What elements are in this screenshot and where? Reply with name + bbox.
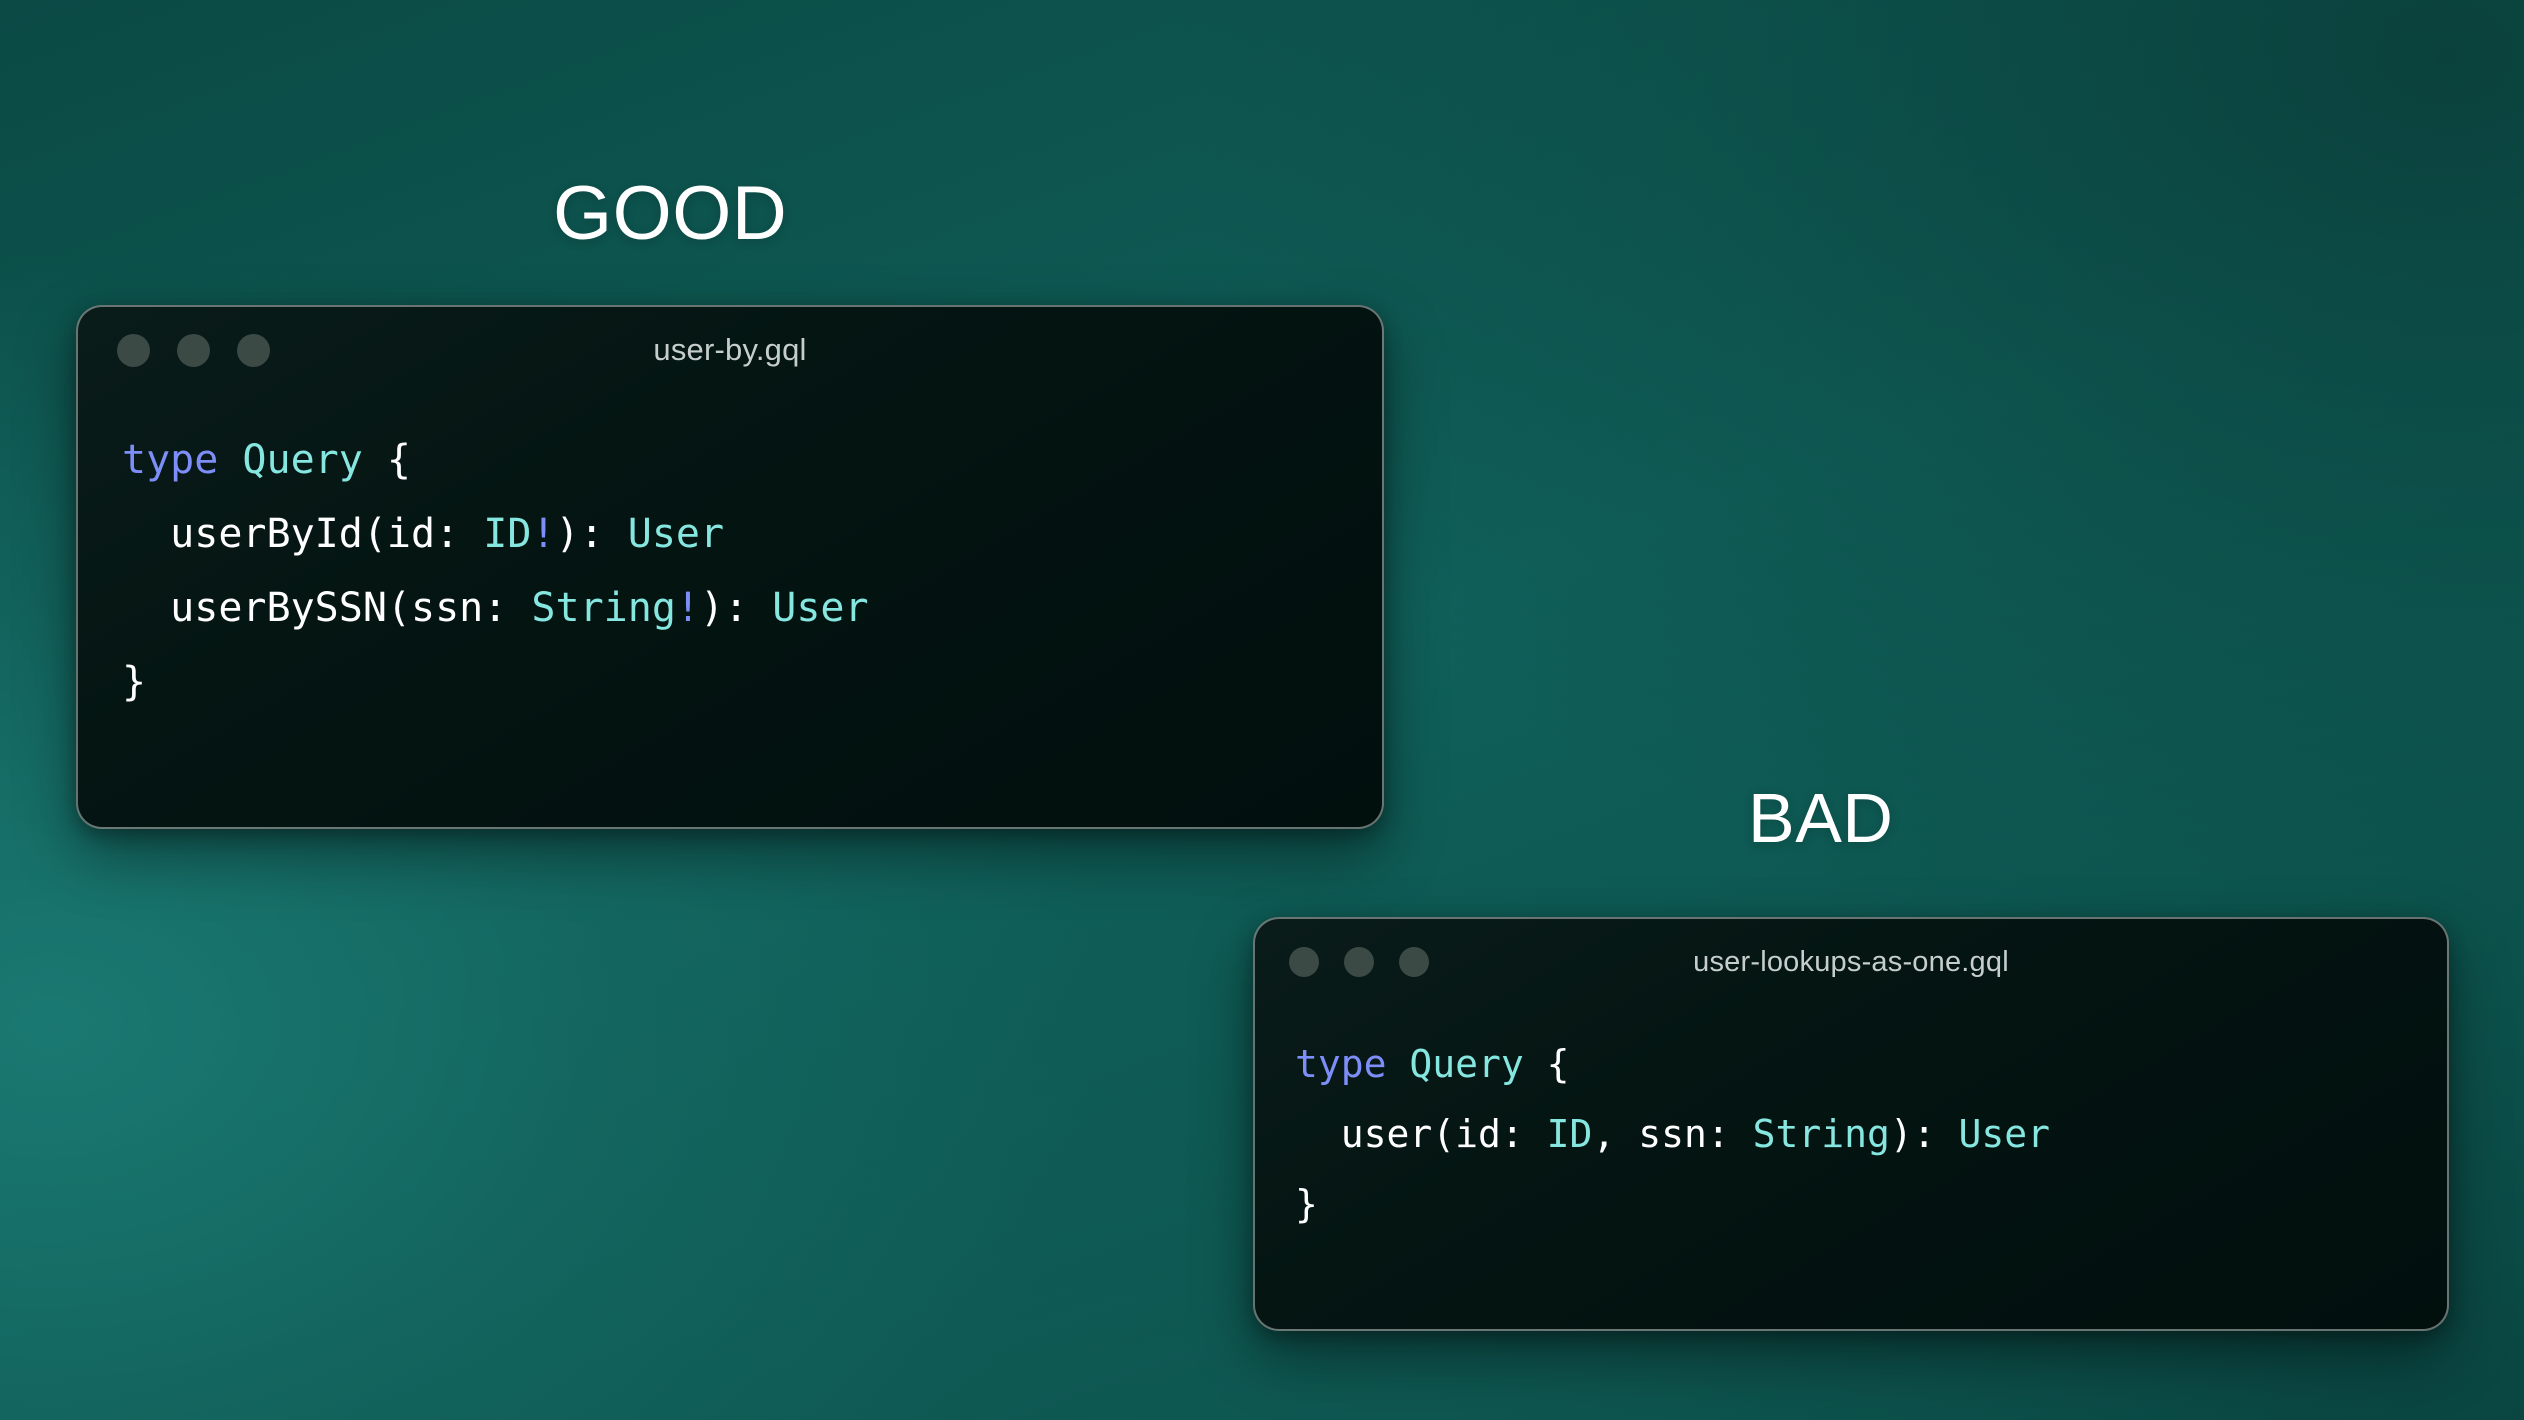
code-token: Query [242,437,362,483]
code-token: { [363,437,411,483]
code-token: ID [1547,1112,1593,1156]
filename-bad: user-lookups-as-one.gql [1255,946,2447,979]
code-token: ): [556,511,628,557]
code-line: } [122,645,1382,719]
traffic-lights-good [117,334,270,367]
minimize-dot-icon[interactable] [177,334,210,367]
code-line: type Query { [1295,1029,2447,1099]
traffic-lights-bad [1289,947,1429,977]
code-block-bad: type Query { user(id: ID, ssn: String): … [1255,1005,2447,1239]
code-token: } [1295,1182,1318,1226]
code-token: ID [483,511,531,557]
bad-label: BAD [1748,783,1893,853]
code-token: type [1295,1042,1387,1086]
comparison-canvas: GOOD user-by.gql type Query { userById(i… [0,0,2524,1420]
code-token: { [1524,1042,1570,1086]
code-token: User [1959,1112,2051,1156]
close-dot-icon[interactable] [117,334,150,367]
code-token: User [628,511,724,557]
code-token: } [122,659,146,705]
filename-good: user-by.gql [78,332,1382,368]
code-token: User [772,585,868,631]
code-token: String [531,585,676,631]
minimize-dot-icon[interactable] [1344,947,1374,977]
titlebar-good: user-by.gql [78,307,1382,393]
code-block-good: type Query { userById(id: ID!): User use… [78,393,1382,719]
code-line: type Query { [122,423,1382,497]
good-label: GOOD [553,176,787,252]
code-line: } [1295,1169,2447,1239]
code-token: user(id: [1295,1112,1547,1156]
code-token: Query [1409,1042,1523,1086]
code-token [218,437,242,483]
code-token: , ssn: [1592,1112,1752,1156]
code-token: ): [1890,1112,1959,1156]
zoom-dot-icon[interactable] [237,334,270,367]
code-line: userBySSN(ssn: String!): User [122,571,1382,645]
titlebar-bad: user-lookups-as-one.gql [1255,919,2447,1005]
code-line: user(id: ID, ssn: String): User [1295,1099,2447,1169]
code-token: type [122,437,218,483]
code-window-bad[interactable]: user-lookups-as-one.gql type Query { use… [1253,917,2449,1331]
code-token: ! [531,511,555,557]
code-token [1387,1042,1410,1086]
code-token: userBySSN(ssn: [122,585,531,631]
code-token: ): [700,585,772,631]
code-token: userById(id: [122,511,483,557]
code-token: String [1753,1112,1890,1156]
zoom-dot-icon[interactable] [1399,947,1429,977]
code-token: ! [676,585,700,631]
code-window-good[interactable]: user-by.gql type Query { userById(id: ID… [76,305,1384,829]
close-dot-icon[interactable] [1289,947,1319,977]
code-line: userById(id: ID!): User [122,497,1382,571]
